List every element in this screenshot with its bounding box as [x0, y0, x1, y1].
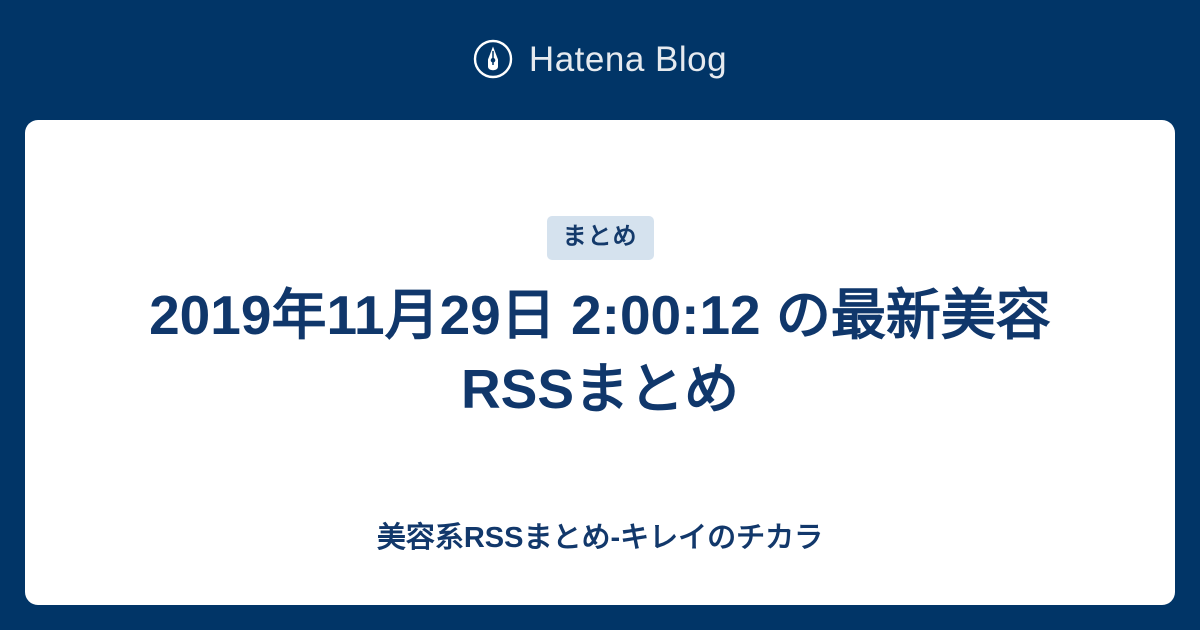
brand-name: Hatena Blog [529, 42, 727, 77]
site-header: Hatena Blog [0, 0, 1200, 118]
entry-body: まとめ 2019年11月29日 2:00:12 の最新美容RSSまとめ [25, 120, 1175, 426]
entry-card: まとめ 2019年11月29日 2:00:12 の最新美容RSSまとめ 美容系R… [25, 120, 1175, 605]
entry-tag-badge[interactable]: まとめ [547, 216, 654, 260]
entry-title: 2019年11月29日 2:00:12 の最新美容RSSまとめ [100, 278, 1100, 426]
blog-name: 美容系RSSまとめ-キレイのチカラ [25, 520, 1175, 558]
pen-nib-circle-icon [473, 39, 513, 79]
